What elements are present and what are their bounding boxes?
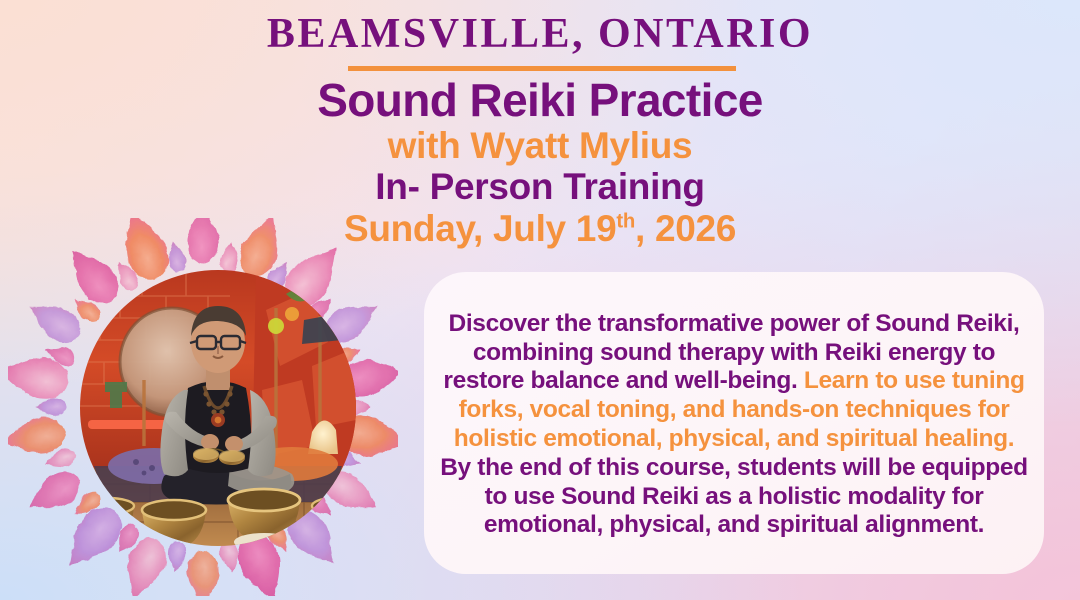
- description-text: Discover the transformative power of Sou…: [440, 310, 1028, 540]
- event-date-suffix: , 2026: [635, 208, 736, 249]
- event-title: Sound Reiki Practice: [0, 76, 1080, 125]
- poster-canvas: BEAMSVILLE, ONTARIO Sound Reiki Practice…: [0, 0, 1080, 600]
- location-heading: BEAMSVILLE, ONTARIO: [0, 12, 1080, 56]
- event-date-ordinal: th: [616, 210, 635, 232]
- header-divider-rule: [348, 66, 736, 71]
- description-part-3: By the end of this course, students will…: [440, 454, 1028, 539]
- description-card: Discover the transformative power of Sou…: [424, 272, 1044, 574]
- mandala-photo-cluster: [8, 218, 398, 596]
- practitioner-photo: [80, 270, 356, 546]
- presenter-line: with Wyatt Mylius: [0, 125, 1080, 166]
- format-line: In- Person Training: [0, 166, 1080, 207]
